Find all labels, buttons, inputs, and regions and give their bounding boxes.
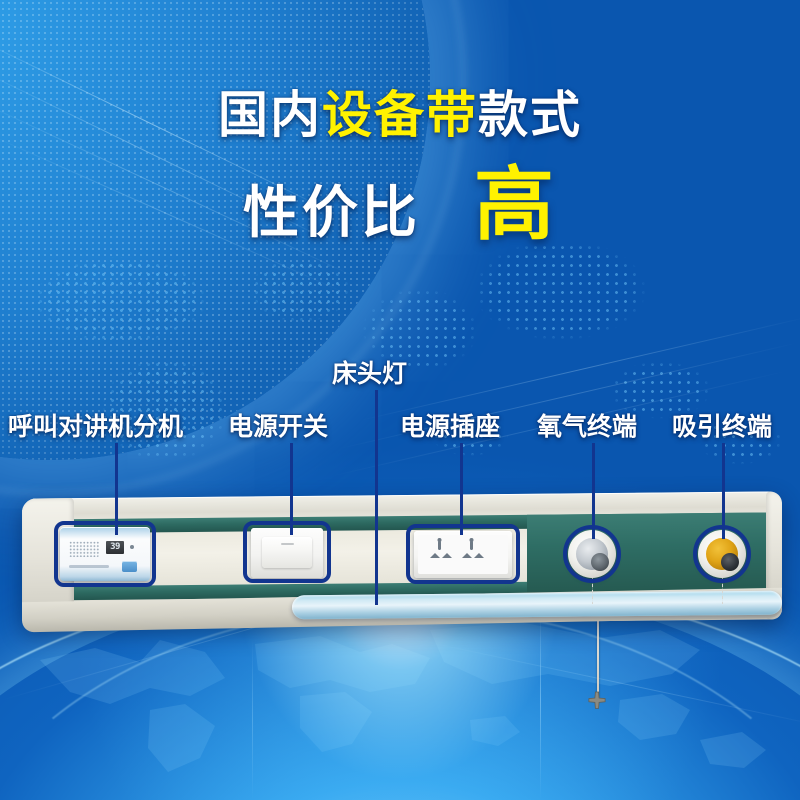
callout-label-power-switch: 电源开关 bbox=[228, 415, 328, 440]
leader-line-suction-terminal bbox=[722, 443, 725, 539]
callout-label-intercom: 呼叫对讲机分机 bbox=[8, 415, 183, 440]
product-banner: 国内设备带款式 性价比高 呼叫对讲机分机 电源开关 床头灯 电源插座 氧气终端 … bbox=[0, 0, 800, 800]
leader-line-bed-lamp bbox=[375, 390, 378, 605]
callout-layer: 呼叫对讲机分机 电源开关 床头灯 电源插座 氧气终端 吸引终端 bbox=[0, 0, 800, 800]
callout-label-suction-terminal: 吸引终端 bbox=[672, 415, 772, 440]
callout-label-power-socket: 电源插座 bbox=[400, 415, 500, 440]
leader-line-power-socket bbox=[460, 443, 463, 535]
callout-label-bed-lamp: 床头灯 bbox=[332, 362, 407, 387]
leader-line-power-switch bbox=[290, 443, 293, 535]
callout-label-oxygen-terminal: 氧气终端 bbox=[537, 415, 637, 440]
leader-line-intercom bbox=[115, 443, 118, 535]
leader-line-oxygen-terminal bbox=[592, 443, 595, 539]
